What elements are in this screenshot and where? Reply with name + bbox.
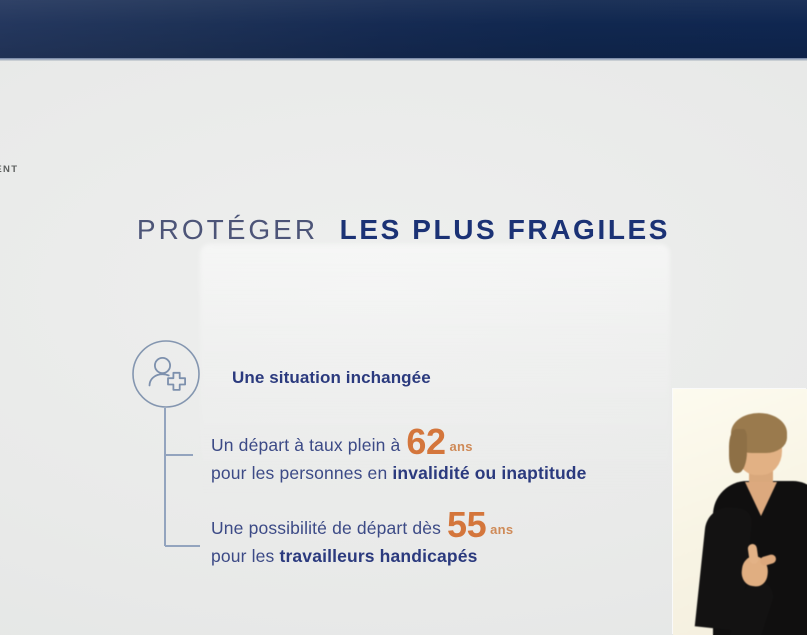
sign-language-interpreter-video	[673, 389, 807, 635]
bullet-second-line-strong: invalidité ou inaptitude	[392, 463, 586, 483]
broadcast-screen: MENT PROTÉGER LES PLUS FRAGILES Une situ…	[0, 0, 807, 635]
bullet-second-line-strong: travailleurs handicapés	[279, 546, 477, 566]
bullet-line-top: Une possibilité de départ dès 55 ans	[211, 508, 513, 543]
top-band-sheen	[0, 0, 807, 58]
interpreter-vneck	[745, 482, 777, 516]
bullet-second-line-prefix: pour les personnes en	[211, 463, 392, 483]
bullet-number: 62	[406, 428, 445, 457]
title-bold-part: LES PLUS FRAGILES	[340, 214, 670, 245]
bullet-item: Un départ à taux plein à 62 ans pour les…	[211, 425, 587, 485]
bullet-unit: ans	[490, 517, 513, 543]
interpreter-arm	[695, 505, 754, 631]
page-title: PROTÉGER LES PLUS FRAGILES	[0, 216, 807, 244]
person-plus-circle-icon	[131, 339, 201, 409]
bullet-item: Une possibilité de départ dès 55 ans pou…	[211, 508, 513, 568]
interpreter-hair-side	[729, 429, 747, 473]
bullet-second-line-prefix: pour les	[211, 546, 279, 566]
bullet-lead-text: Une possibilité de départ dès	[211, 515, 441, 541]
bullet-unit: ans	[449, 434, 472, 460]
bullet-line-bottom: pour les travailleurs handicapés	[211, 544, 513, 568]
title-light-part: PROTÉGER	[137, 214, 318, 245]
bullet-lead-text: Un départ à taux plein à	[211, 432, 400, 458]
bullet-line-bottom: pour les personnes en invalidité ou inap…	[211, 461, 587, 485]
top-navy-band	[0, 0, 807, 58]
cropped-edge-label: MENT	[0, 164, 19, 175]
bullet-line-top: Un départ à taux plein à 62 ans	[211, 425, 587, 460]
bullet-number: 55	[447, 511, 486, 540]
sub-heading: Une situation inchangée	[232, 368, 431, 388]
